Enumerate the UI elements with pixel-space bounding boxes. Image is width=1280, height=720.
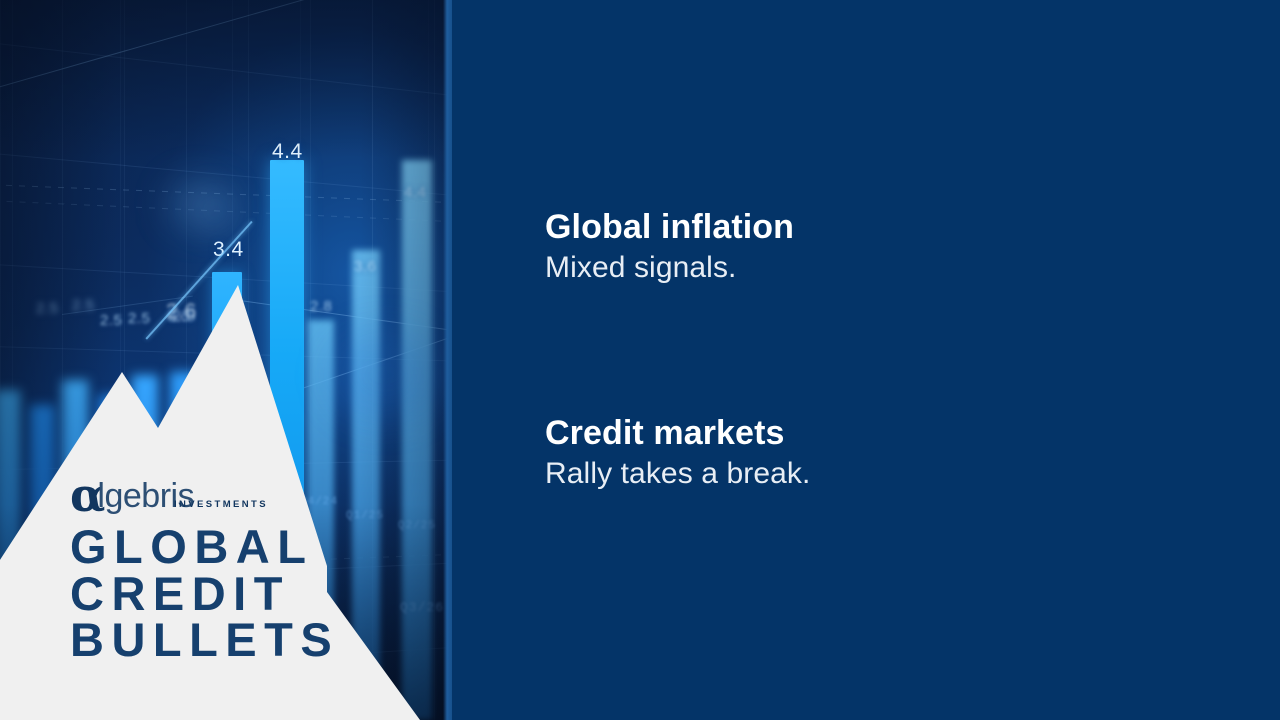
deck-title-line-2: CREDIT <box>70 571 370 618</box>
deck-title: GLOBAL CREDIT BULLETS <box>70 524 370 664</box>
bullet-title: Global inflation <box>545 208 794 246</box>
deck-title-line-1: GLOBAL <box>70 524 370 571</box>
logo-subtitle: INVESTMENTS <box>174 499 268 510</box>
bullet-item-credit-markets: Credit markets Rally takes a break. <box>545 414 810 492</box>
bullet-subtitle: Rally takes a break. <box>545 457 810 492</box>
bullet-item-global-inflation: Global inflation Mixed signals. <box>545 208 794 286</box>
bullets-panel: Global inflation Mixed signals. Credit m… <box>452 0 1280 720</box>
bullet-subtitle: Mixed signals. <box>545 251 794 286</box>
bullet-title: Credit markets <box>545 414 810 452</box>
algebris-logo: α lgebris INVESTMENTS <box>70 470 370 512</box>
slide-root: 2.5 2.5 2.5 2.5 2.5 2.5 2.6 3.4 4.4 2.8 … <box>0 0 1280 720</box>
brand-block: α lgebris INVESTMENTS GLOBAL CREDIT BULL… <box>70 470 370 664</box>
deck-title-line-3: BULLETS <box>70 617 370 664</box>
